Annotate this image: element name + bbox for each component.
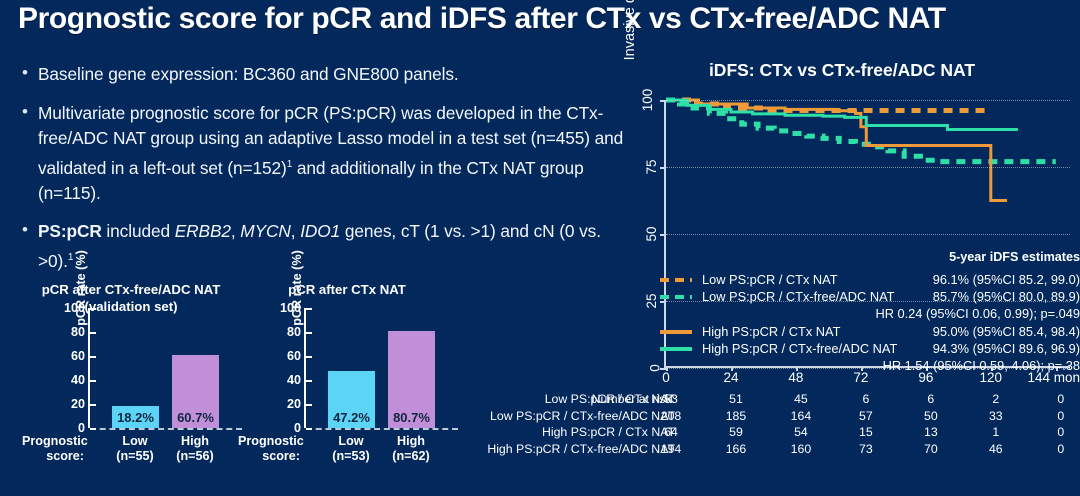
bullet-text-segment: , <box>231 221 240 241</box>
bar-chart-y-tick-mark <box>90 308 96 310</box>
risk-cell: 164 <box>791 409 812 423</box>
risk-row-label: High PS:pCR / CTx-free/ADC NAT <box>440 442 675 456</box>
risk-cell: 51 <box>729 392 743 406</box>
bar-low: 18.2% <box>112 406 159 428</box>
bar-chart-y-tick-mark <box>306 428 312 430</box>
km-y-tick-mark <box>660 167 666 169</box>
x-axis-caption-line1: Prognostic <box>22 434 84 449</box>
bar-high: 60.7% <box>172 355 219 428</box>
km-y-tick-mark <box>660 100 666 102</box>
bullet-text-segment: IDO1 <box>300 221 340 241</box>
bar-x-label-group: High(n=56) <box>148 434 242 464</box>
risk-cell: 45 <box>794 392 808 406</box>
x-axis-caption-line1: Prognostic <box>238 434 300 449</box>
bar-chart-y-tick-mark <box>306 404 312 406</box>
bullet-list: •Baseline gene expression: BC360 and GNE… <box>12 62 632 287</box>
risk-cell: 70 <box>924 442 938 456</box>
bar-chart-y-tick-label: 80 <box>71 325 85 339</box>
bar-chart-y-tick-label: 60 <box>71 349 85 363</box>
bullet-item: •Multivariate prognostic score for pCR (… <box>12 101 632 207</box>
bar-chart-y-tick-label: 100 <box>64 301 85 315</box>
bar-value-label: 18.2% <box>112 410 159 425</box>
bar-value-label: 60.7% <box>172 410 219 425</box>
risk-cell: 33 <box>989 409 1003 423</box>
bar-x-label: High <box>148 434 242 449</box>
risk-cell: 160 <box>791 442 812 456</box>
legend-label: Low PS:pCR / CTx NAT <box>702 272 838 287</box>
risk-table-row: High PS:pCR / CTx NAT645954151310 <box>440 425 1080 442</box>
legend-value: 95.0% (95%CI 85.4, 98.4) <box>933 324 1080 339</box>
bullet-text-segment: included <box>102 221 175 241</box>
risk-table-row: Low PS:pCR / CTx NAT5351456620 <box>440 392 1080 409</box>
bar-chart-y-tick-label: 80 <box>287 325 301 339</box>
bar-value-label: 80.7% <box>388 410 435 425</box>
bar-chart-pcr-ctx-free: pCR after CTx-free/ADC NAT(validation se… <box>22 282 240 496</box>
legend-swatch-green-solid <box>660 347 692 351</box>
legend-header: 5-year iDFS estimates <box>949 250 1080 264</box>
legend-value: 94.3% (95%CI 89.6, 96.9) <box>933 341 1080 356</box>
bar-chart-plot-area: pCR rate (%)02040608010047.2%80.7% <box>304 308 440 428</box>
legend-label: High PS:pCR / CTx NAT <box>702 324 840 339</box>
risk-cell: 57 <box>859 409 873 423</box>
legend-row: Low PS:pCR / CTx-free/ADC NAT85.7% (95%C… <box>660 289 1080 306</box>
legend-value: 96.1% (95%CI 85.2, 99.0) <box>933 272 1080 287</box>
km-survival-chart: iDFS: CTx vs CTx-free/ADC NAT Invasive d… <box>612 60 1080 390</box>
risk-cell: 194 <box>661 442 682 456</box>
bar-chart-y-tick-label: 40 <box>71 373 85 387</box>
km-chart-title: iDFS: CTx vs CTx-free/ADC NAT <box>612 60 1072 81</box>
bar-chart-y-tick-mark <box>306 332 312 334</box>
km-legend: 5-year iDFS estimates Low PS:pCR / CTx N… <box>660 272 1080 376</box>
bar-chart-title: pCR after CTx-free/ADC NAT <box>22 282 240 297</box>
bullet-text-segment: ERBB2 <box>175 221 231 241</box>
bar-chart-y-tick-label: 100 <box>280 301 301 315</box>
bar-chart-y-tick-mark <box>306 308 312 310</box>
bullet-text: Multivariate prognostic score for pCR (P… <box>38 101 632 207</box>
legend-value: HR 0.24 (95%CI 0.06, 0.99); p=.049 <box>875 306 1080 321</box>
risk-cell: 53 <box>664 392 678 406</box>
risk-row-label: Low PS:pCR / CTx NAT <box>440 392 675 406</box>
legend-row: Low PS:pCR / CTx NAT96.1% (95%CI 85.2, 9… <box>660 272 1080 289</box>
risk-table-row: Low PS:pCR / CTx-free/ADC NAT20818516457… <box>440 409 1080 426</box>
bar-value-label: 47.2% <box>328 410 375 425</box>
km-gridline <box>666 234 1070 235</box>
legend-swatch-green-dashed <box>660 295 692 299</box>
bar-high: 80.7% <box>388 331 435 428</box>
bullet-text: Baseline gene expression: BC360 and GNE8… <box>38 62 459 88</box>
legend-swatch-orange-dashed <box>660 278 692 282</box>
bar-chart-pcr-ctx: pCR after CTx NATpCR rate (%)02040608010… <box>238 282 456 496</box>
legend-label: Low PS:pCR / CTx-free/ADC NAT <box>702 289 894 304</box>
risk-cell: 6 <box>927 392 934 406</box>
bar-chart-title: pCR after CTx NAT <box>238 282 456 297</box>
km-gridline <box>666 167 1070 168</box>
risk-cell: 46 <box>989 442 1003 456</box>
bar-chart-y-tick-mark <box>90 356 96 358</box>
bar-low: 47.2% <box>328 371 375 428</box>
legend-row: HR 0.24 (95%CI 0.06, 0.99); p=.049 <box>660 306 1080 324</box>
bar-chart-y-tick-mark <box>90 428 96 430</box>
risk-cell: 0 <box>1057 442 1064 456</box>
risk-cell: 166 <box>726 442 747 456</box>
km-y-axis-label: Invasive disease-free survival (%) <box>622 0 638 88</box>
risk-cell: 1 <box>992 425 999 439</box>
legend-row: High PS:pCR / CTx-free/ADC NAT94.3% (95%… <box>660 341 1080 358</box>
bar-chart-y-tick-label: 0 <box>78 421 85 435</box>
bullet-text-segment: 1 <box>68 252 73 263</box>
risk-row-label: High PS:pCR / CTx NAT <box>440 425 675 439</box>
km-y-tick-label: 75 <box>644 159 659 174</box>
legend-row: High PS:pCR / CTx NAT95.0% (95%CI 85.4, … <box>660 324 1080 341</box>
bar-chart-y-tick-mark <box>306 356 312 358</box>
risk-cell: 73 <box>859 442 873 456</box>
km-y-tick-label: 50 <box>644 226 659 241</box>
bar-chart-x-axis-caption: Prognosticscore: <box>238 434 300 464</box>
x-axis-caption-line2: score: <box>238 449 300 464</box>
risk-cell: 185 <box>726 409 747 423</box>
km-y-tick-label: 100 <box>640 89 655 112</box>
risk-cell: 54 <box>794 425 808 439</box>
legend-label: High PS:pCR / CTx-free/ADC NAT <box>702 341 897 356</box>
bullet-marker-icon: • <box>12 219 38 274</box>
risk-cell: 0 <box>1057 425 1064 439</box>
risk-table-row: High PS:pCR / CTx-free/ADC NAT1941661607… <box>440 442 1080 459</box>
risk-cell: 2 <box>992 392 999 406</box>
risk-cell: 208 <box>661 409 682 423</box>
bar-chart-y-tick-label: 20 <box>71 397 85 411</box>
legend-value: 85.7% (95%CI 80.0, 89.9) <box>933 289 1080 304</box>
bar-chart-y-tick-label: 20 <box>287 397 301 411</box>
risk-cell: 13 <box>924 425 938 439</box>
legend-swatch-orange-solid <box>660 330 692 334</box>
risk-row-label: Low PS:pCR / CTx-free/ADC NAT <box>440 409 675 423</box>
risk-cell: 15 <box>859 425 873 439</box>
bar-chart-y-tick-mark <box>90 332 96 334</box>
bullet-text-segment: PS:pCR <box>38 221 102 241</box>
bullet-text-segment: MYCN <box>240 221 290 241</box>
risk-cell: 50 <box>924 409 938 423</box>
bullet-item: •PS:pCR included ERBB2, MYCN, IDO1 genes… <box>12 219 632 274</box>
bar-chart-x-axis-caption: Prognosticscore: <box>22 434 84 464</box>
x-axis-caption-line2: score: <box>22 449 84 464</box>
bar-chart-y-tick-label: 60 <box>287 349 301 363</box>
bar-chart-y-tick-label: 40 <box>287 373 301 387</box>
km-y-tick-label: 25 <box>644 293 659 308</box>
bar-chart-y-tick-mark <box>306 380 312 382</box>
legend-row: HR 1.54 (95%CI 0.59, 4.06); p=.38 <box>660 358 1080 376</box>
risk-cell: 64 <box>664 425 678 439</box>
risk-cell: 59 <box>729 425 743 439</box>
risk-cell: 6 <box>862 392 869 406</box>
risk-cell: 0 <box>1057 392 1064 406</box>
legend-value: HR 1.54 (95%CI 0.59, 4.06); p=.38 <box>883 358 1080 373</box>
bar-chart-y-tick-mark <box>90 404 96 406</box>
bullet-text: PS:pCR included ERBB2, MYCN, IDO1 genes,… <box>38 219 632 274</box>
bar-chart-plot-area: pCR rate (%)02040608010018.2%60.7% <box>88 308 224 428</box>
bullet-text-segment: Baseline gene expression: BC360 and GNE8… <box>38 64 459 84</box>
km-gridline <box>666 100 1070 101</box>
number-at-risk-table: Number at risk: Low PS:pCR / CTx NAT5351… <box>440 392 1080 458</box>
risk-cell: 0 <box>1057 409 1064 423</box>
bullet-marker-icon: • <box>12 62 38 88</box>
bar-chart-y-tick-mark <box>90 380 96 382</box>
bar-chart-y-tick-label: 0 <box>294 421 301 435</box>
bullet-marker-icon: • <box>12 101 38 207</box>
km-y-tick-mark <box>660 234 666 236</box>
bullet-item: •Baseline gene expression: BC360 and GNE… <box>12 62 632 88</box>
bar-x-sublabel: (n=56) <box>148 449 242 464</box>
page-title: Prognostic score for pCR and iDFS after … <box>18 2 1068 36</box>
